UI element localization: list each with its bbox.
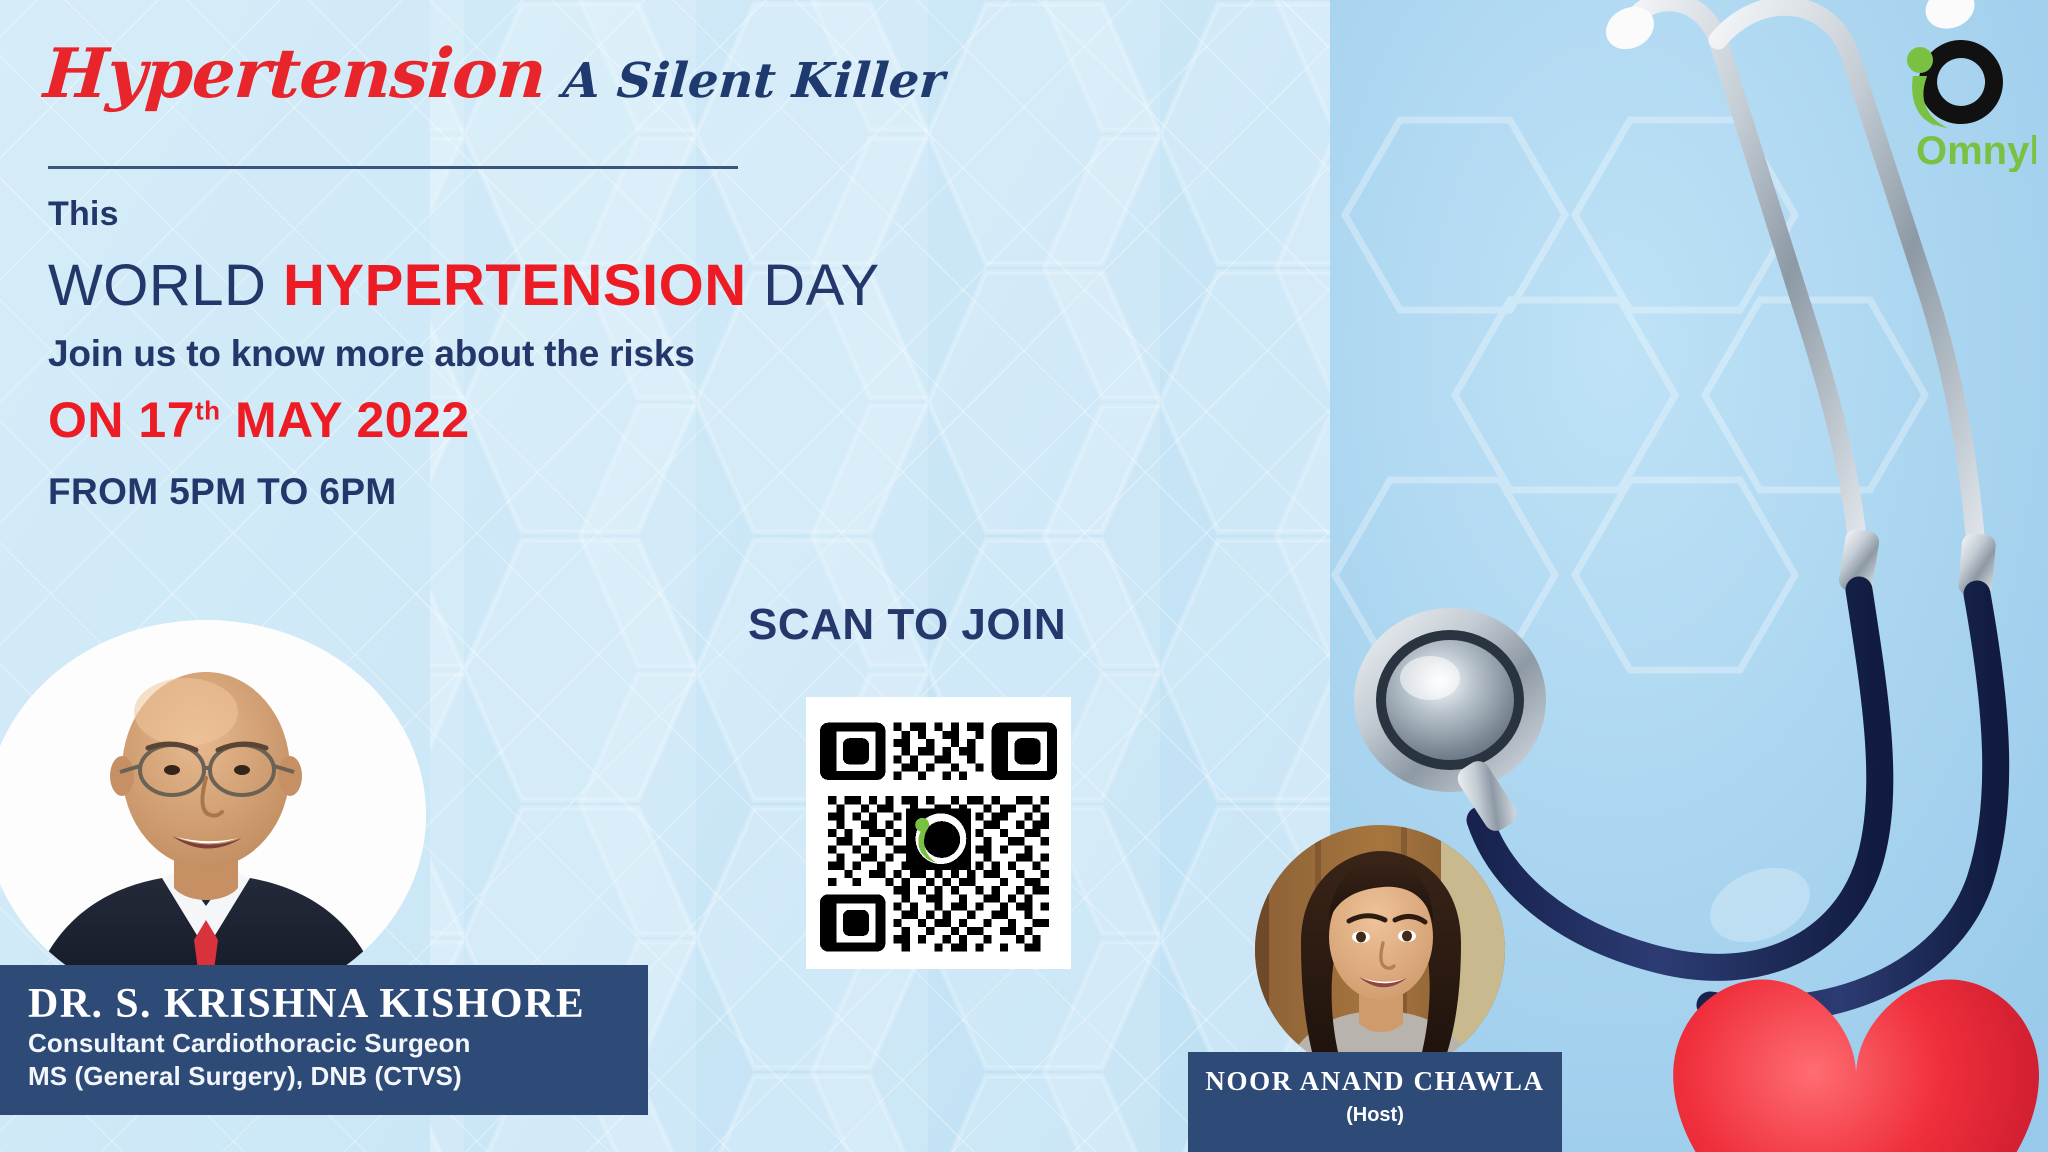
title-divider [48, 166, 738, 169]
title-brand: Hypertension [41, 34, 548, 114]
qr-center-logo [906, 808, 971, 869]
event-copy-block: This WORLD HYPERTENSION DAY Join us to k… [48, 195, 880, 513]
host-photo [1255, 825, 1505, 1075]
event-date: ON 17th MAY 2022 [48, 391, 880, 449]
title-tagline: A Silent Killer [561, 53, 947, 109]
event-date-suffix: MAY 2022 [221, 392, 470, 448]
event-title-line: WORLD HYPERTENSION DAY [48, 256, 880, 317]
speaker-name: DR. S. KRISHNA KISHORE [28, 981, 648, 1027]
speaker-role: Consultant Cardiothoracic Surgeon [28, 1027, 648, 1060]
event-date-ordinal: th [195, 395, 221, 425]
event-subtitle: Join us to know more about the risks [48, 333, 880, 375]
speaker-photo [0, 620, 426, 1010]
event-title-post: DAY [747, 253, 880, 318]
poster-canvas: Hypertension A Silent Killer This WORLD … [0, 0, 2048, 1152]
host-role: (Host) [1346, 1104, 1404, 1127]
intro-text: This [48, 195, 880, 234]
speaker-qualifications: MS (General Surgery), DNB (CTVS) [28, 1060, 648, 1093]
event-title-highlight: HYPERTENSION [283, 253, 747, 318]
host-name-plate: NOOR ANAND CHAWLA (Host) [1188, 1052, 1562, 1152]
scan-to-join-label: SCAN TO JOIN [748, 600, 1066, 650]
speaker-name-plate: DR. S. KRISHNA KISHORE Consultant Cardio… [0, 965, 648, 1115]
omnyk-wordmark: Omnyk [1916, 129, 2036, 172]
event-time: FROM 5PM TO 6PM [48, 471, 880, 513]
qr-code[interactable] [806, 697, 1071, 969]
host-name: NOOR ANAND CHAWLA [1205, 1066, 1544, 1097]
event-title-pre: WORLD [48, 253, 283, 318]
poster-title: Hypertension A Silent Killer [44, 34, 945, 114]
omnyk-logo: Omnyk [1886, 22, 2036, 172]
event-date-prefix: ON 17 [48, 392, 195, 448]
